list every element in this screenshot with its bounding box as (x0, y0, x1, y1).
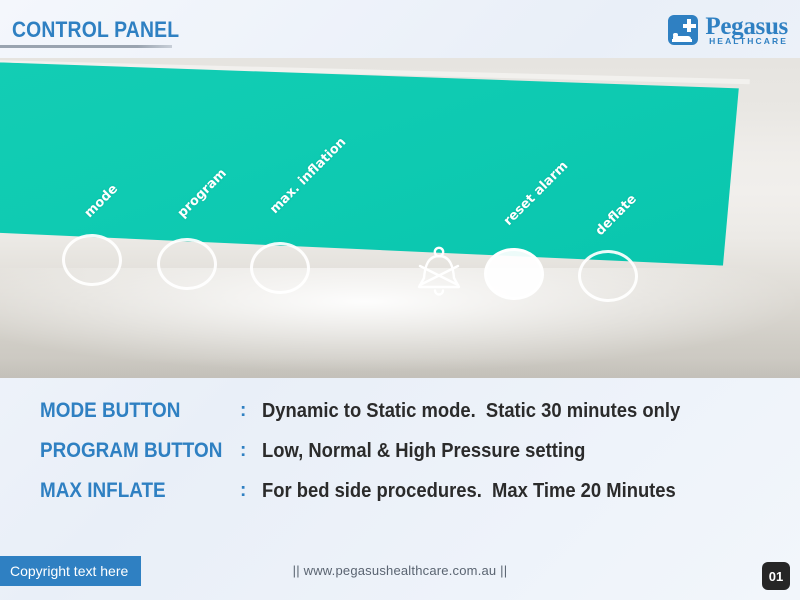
panel-button-deflate[interactable]: deflate (577, 249, 639, 303)
brand-logo-text: Pegasus HEALTHCARE (705, 14, 788, 46)
page-number-badge: 01 (762, 562, 790, 590)
page-title: CONTROL PANEL (12, 17, 179, 43)
spec-row-max-inflate: MAX INFLATE : For bed side procedures. M… (40, 471, 780, 511)
panel-button-mode[interactable]: mode (61, 233, 123, 287)
specification-list: MODE BUTTON : Dynamic to Static mode. St… (0, 386, 800, 548)
spec-label: PROGRAM BUTTON (40, 439, 220, 463)
control-panel-photo: mode program max. inflation (0, 58, 800, 378)
title-underline-divider (0, 45, 172, 48)
panel-button-program[interactable]: program (156, 237, 218, 291)
spec-value: For bed side procedures. Max Time 20 Min… (262, 480, 676, 503)
brand-tagline: HEALTHCARE (705, 37, 788, 46)
membrane-panel-wrap: mode program max. inflation (0, 58, 800, 378)
brand-logo: Pegasus HEALTHCARE (668, 14, 788, 46)
slide: CONTROL PANEL Pegasus HEALTHCARE mode (0, 0, 800, 600)
hospital-bed-plus-icon (668, 15, 698, 45)
panel-button-reset-alarm[interactable]: reset alarm (483, 247, 545, 301)
alarm-mute-bell-icon (410, 244, 468, 300)
mode-button-ring (61, 233, 123, 287)
panel-button-max-inflation[interactable]: max. inflation (249, 241, 311, 295)
deflate-button-ring (577, 249, 639, 303)
spec-label: MODE BUTTON (40, 399, 220, 423)
header: CONTROL PANEL Pegasus HEALTHCARE (0, 0, 800, 58)
spec-separator: : (240, 440, 262, 462)
spec-row-program-button: PROGRAM BUTTON : Low, Normal & High Pres… (40, 431, 780, 471)
spec-separator: : (240, 400, 262, 422)
spec-value: Low, Normal & High Pressure setting (262, 440, 585, 463)
program-button-ring (156, 237, 218, 291)
max-inflation-button-ring (249, 241, 311, 295)
reset-alarm-button-disc (483, 247, 545, 301)
footer-website-url[interactable]: || www.pegasushealthcare.com.au || (0, 563, 800, 578)
footer: Copyright text here || www.pegasushealth… (0, 548, 800, 600)
spec-value: Dynamic to Static mode. Static 30 minute… (262, 400, 680, 423)
spec-separator: : (240, 480, 262, 502)
spec-row-mode-button: MODE BUTTON : Dynamic to Static mode. St… (40, 391, 780, 431)
spec-label: MAX INFLATE (40, 479, 220, 503)
